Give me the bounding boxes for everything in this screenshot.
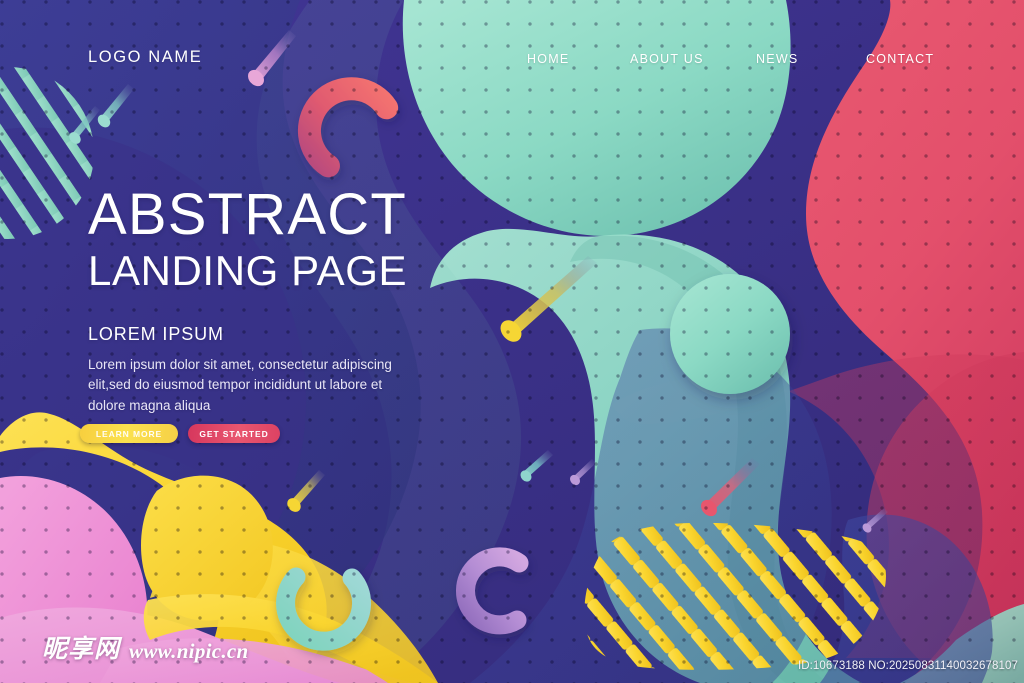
stock-image-id-tag: ID:10673188 NO:20250831140032678107 [798,660,1018,672]
site-header: LOGO NAME HOME ABOUT US NEWS CONTACT [0,0,1024,108]
nav-item-about-us[interactable]: ABOUT US [630,52,704,66]
learn-more-button[interactable]: LEARN MORE [80,424,178,443]
hero-body-text: Lorem ipsum dolor sit amet, consectetur … [88,355,400,418]
hero-cta-group: LEARN MORE GET STARTED [80,424,280,443]
main-navigation: HOME ABOUT US NEWS CONTACT [0,52,1024,72]
hero-subtitle: LOREM IPSUM [88,324,518,345]
landing-page-canvas: LOGO NAME HOME ABOUT US NEWS CONTACT ABS… [0,0,1024,683]
watermark-site-name: 昵享网 [42,629,120,665]
hero-title-line1: ABSTRACT [88,186,518,244]
nav-item-contact[interactable]: CONTACT [866,52,934,66]
nav-item-home[interactable]: HOME [527,52,570,66]
watermark-site-url: www.nipic.cn [129,639,249,665]
page-content: LOGO NAME HOME ABOUT US NEWS CONTACT ABS… [0,0,1024,683]
nav-item-news[interactable]: NEWS [756,52,799,66]
watermark: 昵享网 www.nipic.cn [42,629,249,665]
hero-title-line2: LANDING PAGE [88,246,518,296]
hero-section: ABSTRACT LANDING PAGE LOREM IPSUM Lorem … [88,186,518,417]
get-started-button[interactable]: GET STARTED [188,424,280,443]
